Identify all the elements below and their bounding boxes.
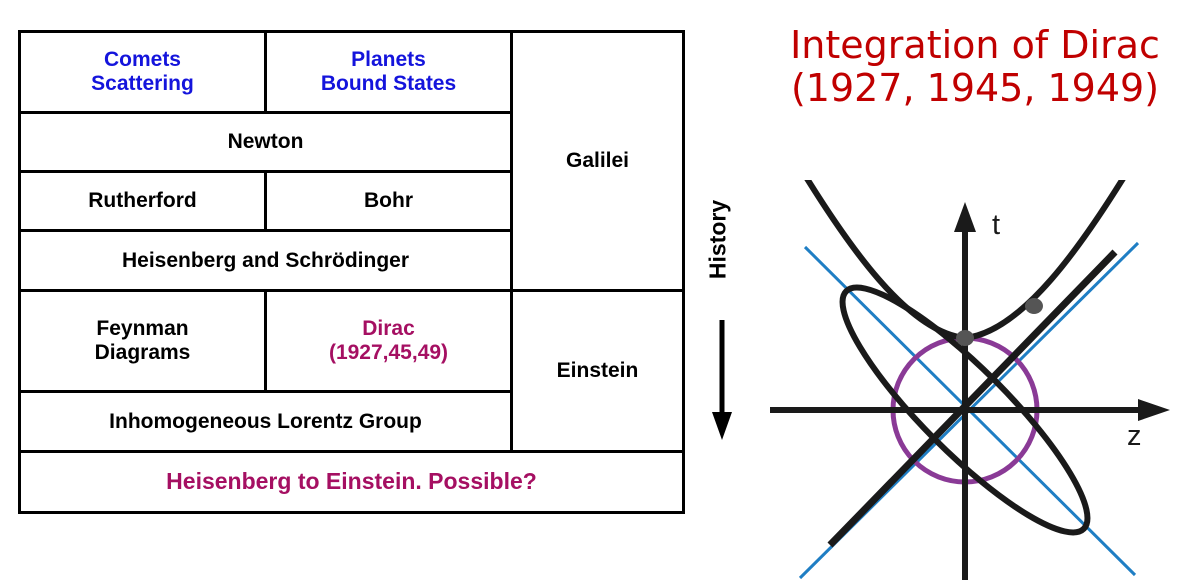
t-axis-label: t	[992, 209, 1000, 241]
history-down-arrow-icon	[710, 320, 750, 440]
table-cell-heisenberg-to-einstein: Heisenberg to Einstein. Possible?	[18, 450, 685, 514]
cell-label: Newton	[228, 130, 304, 154]
table-cell-dirac: Dirac (1927,45,49)	[264, 289, 513, 393]
point-boosted	[1025, 298, 1043, 314]
table-cell-comets-scattering: Comets Scattering	[18, 30, 267, 114]
cell-label: Bohr	[364, 189, 413, 213]
cell-label: Einstein	[557, 359, 639, 383]
history-axis: History	[694, 180, 764, 440]
history-axis-label: History	[705, 185, 732, 295]
table-cell-planets-bound-states: Planets Bound States	[264, 30, 513, 114]
table-cell-rutherford: Rutherford	[18, 170, 267, 232]
cell-label: Galilei	[566, 149, 629, 173]
cell-label: Heisenberg and Schrödinger	[122, 249, 409, 273]
table-cell-einstein: Einstein	[510, 289, 685, 453]
point-hyperbola-vertex	[956, 330, 974, 346]
cell-label: Heisenberg to Einstein. Possible?	[166, 469, 537, 495]
cell-label: Comets Scattering	[91, 48, 194, 95]
boosted-worldline	[830, 252, 1115, 545]
history-of-physics-table: Comets Scattering Planets Bound States N…	[18, 30, 685, 554]
table-cell-bohr: Bohr	[264, 170, 513, 232]
table-cell-inhomogeneous-lorentz-group: Inhomogeneous Lorentz Group	[18, 390, 513, 453]
table-cell-feynman-diagrams: Feynman Diagrams	[18, 289, 267, 393]
cell-label: Rutherford	[88, 189, 197, 213]
cell-label: Feynman Diagrams	[95, 317, 191, 364]
spacetime-diagram: t z	[770, 180, 1190, 580]
cell-label: Planets Bound States	[321, 48, 456, 95]
table-cell-newton: Newton	[18, 111, 513, 173]
z-axis-arrow-icon	[1138, 399, 1170, 421]
z-axis-label: z	[1127, 420, 1142, 452]
diagram-title: Integration of Dirac (1927, 1945, 1949)	[760, 24, 1190, 109]
cell-label: Inhomogeneous Lorentz Group	[109, 410, 422, 434]
table-cell-heisenberg-and-schrodinger: Heisenberg and Schrödinger	[18, 229, 513, 292]
spacetime-plot: t z	[770, 180, 1190, 580]
table-cell-galilei: Galilei	[510, 30, 685, 292]
cell-label: Dirac (1927,45,49)	[329, 317, 448, 364]
t-axis-arrow-icon	[954, 202, 976, 232]
